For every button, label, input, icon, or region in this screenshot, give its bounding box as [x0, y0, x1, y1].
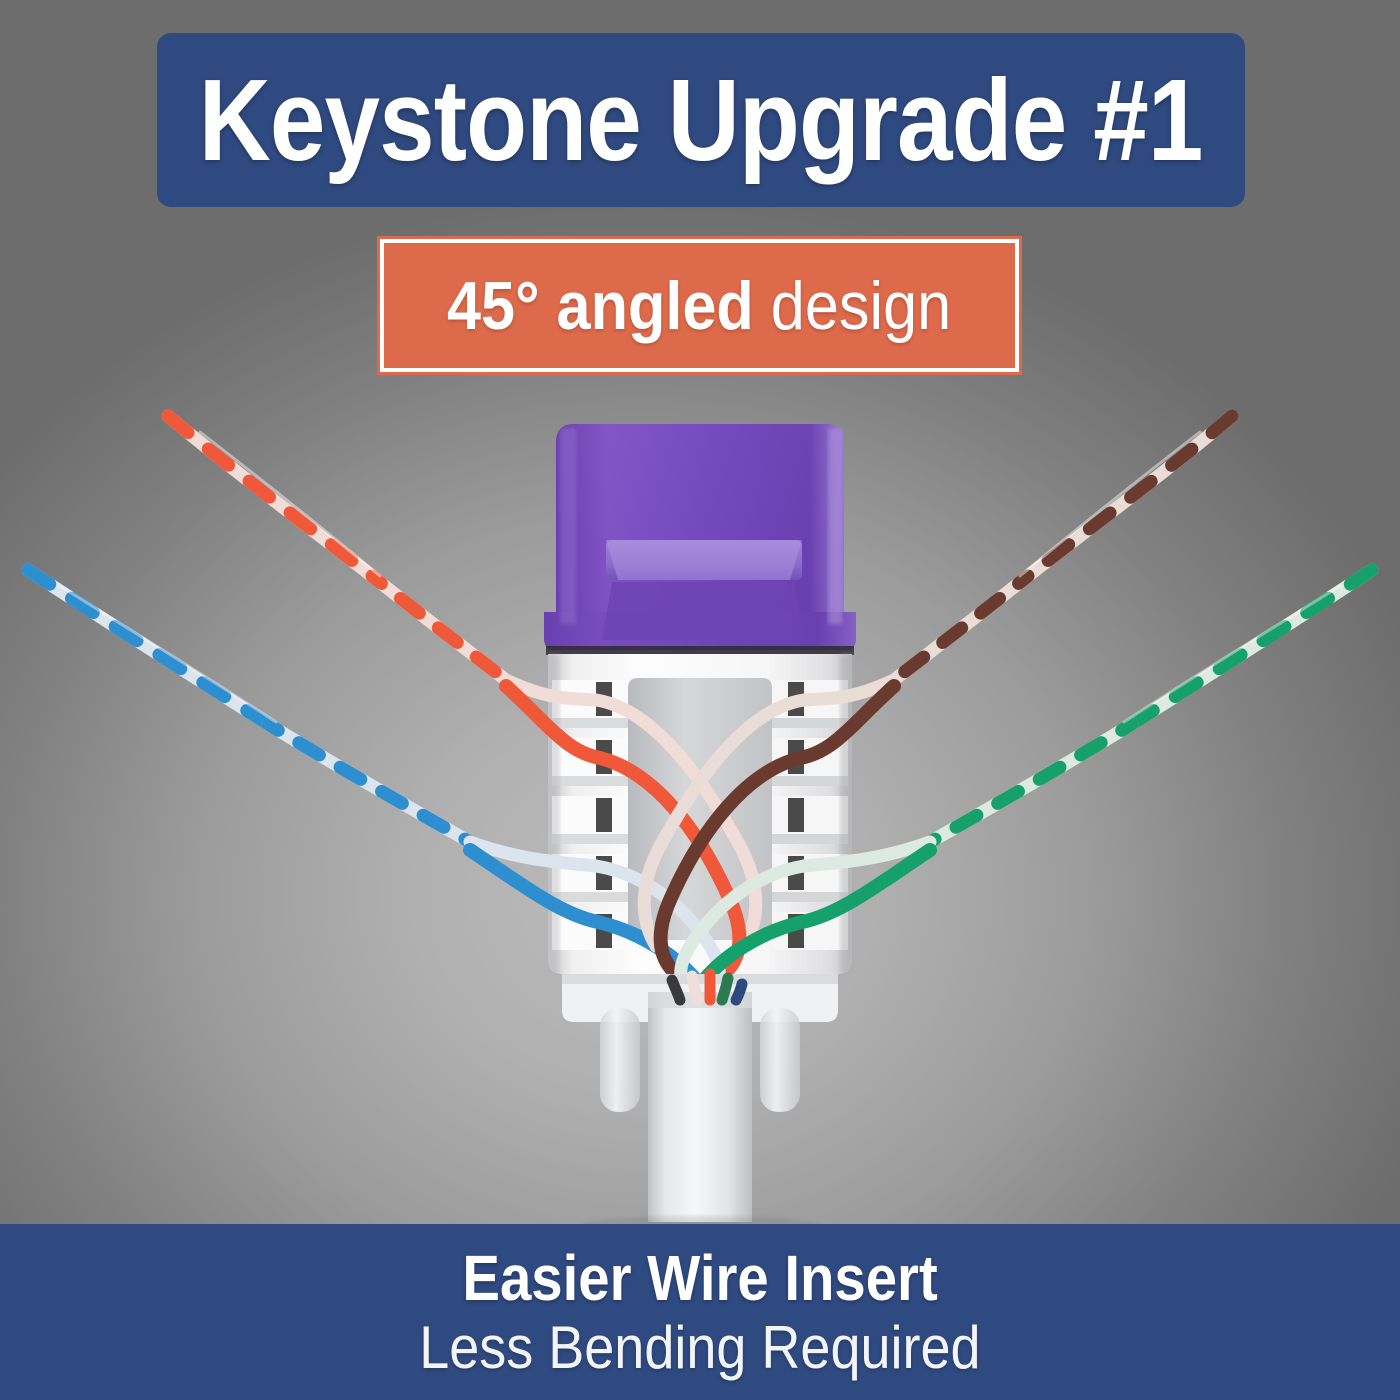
cable-jacket: [648, 992, 752, 1222]
page-title: Keystone Upgrade #1: [199, 62, 1203, 178]
title-banner: Keystone Upgrade #1: [157, 33, 1245, 207]
footer-banner: Easier Wire Insert Less Bending Required: [0, 1224, 1400, 1400]
feature-callout-banner: 45° angled design: [377, 236, 1022, 375]
footer-subline: Less Bending Required: [419, 1316, 980, 1379]
feature-callout-highlight: 45° angled: [447, 268, 754, 344]
feature-callout-text: 45° angled design: [447, 272, 951, 340]
footer-headline: Easier Wire Insert: [462, 1245, 937, 1312]
product-marketing-image: Keystone Upgrade #1 45° angled design Ea…: [0, 0, 1400, 1400]
keystone-purple-cap: [544, 424, 856, 655]
feature-callout-rest: design: [754, 268, 951, 344]
product-photo: [0, 380, 1400, 1230]
